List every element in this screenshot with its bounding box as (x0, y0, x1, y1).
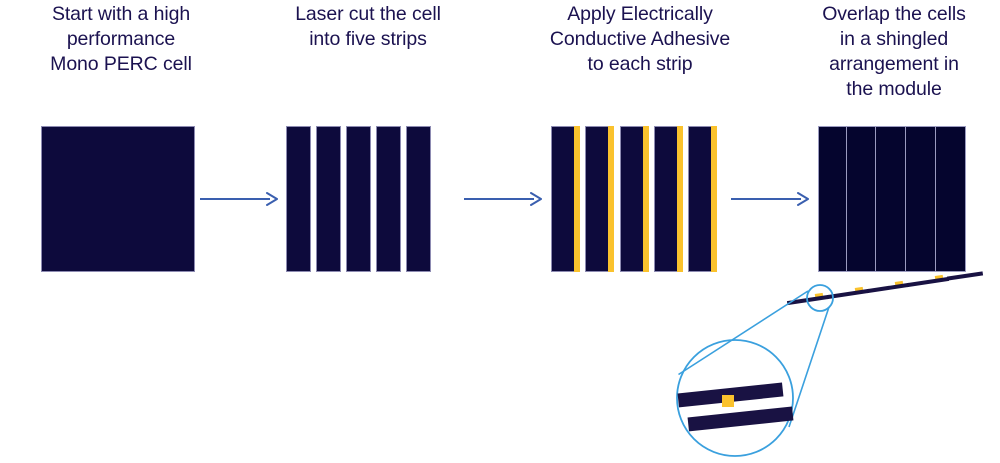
adhesive-bead (711, 126, 717, 272)
cut-strip (406, 126, 431, 272)
strip-body (551, 126, 574, 272)
step-2-caption: Laser cut the cell into five strips (266, 2, 470, 52)
whole-cell-figure (41, 126, 195, 272)
eca-strip (620, 126, 649, 272)
shingled-module-figure (818, 126, 985, 272)
cut-strips-figure (286, 126, 431, 272)
magnifier-connector-lines (679, 291, 830, 427)
step-3-caption: Apply Electrically Conductive Adhesive t… (516, 2, 764, 77)
arrow-step2-to-step3 (464, 188, 542, 210)
eca-strip (688, 126, 717, 272)
adhesive-bead (608, 126, 614, 272)
shingled-cell (935, 126, 966, 272)
strip-body (585, 126, 608, 272)
arrow-step3-to-step4 (731, 188, 809, 210)
magnifier-small-circle (807, 285, 833, 311)
adhesive-bead (643, 126, 649, 272)
arrow-right-icon (200, 188, 278, 210)
side-view-cell (827, 289, 869, 299)
arrow-right-icon (464, 188, 542, 210)
shingle-side-view (787, 271, 983, 305)
adhesive-bead (677, 126, 683, 272)
shingled-cell (846, 126, 876, 272)
arrow-right-icon (731, 188, 809, 210)
shingled-cell-row (818, 126, 985, 272)
step-4-caption: Overlap the cells in a shingled arrangem… (790, 2, 998, 102)
strip-body (654, 126, 677, 272)
side-view-cell (907, 277, 949, 287)
cut-strip (286, 126, 311, 272)
shingled-cell (875, 126, 906, 272)
magnified-overlap-detail (678, 382, 794, 431)
shingled-cell (818, 126, 847, 272)
step-1-caption: Start with a high performance Mono PERC … (12, 2, 230, 77)
side-view-cell (947, 271, 983, 280)
lower-cell-detail (688, 406, 794, 431)
eca-strip (654, 126, 683, 272)
cut-strip (316, 126, 341, 272)
shingled-cell (905, 126, 936, 272)
eca-strip (551, 126, 580, 272)
mono-perc-cell (41, 126, 195, 272)
upper-cell-detail (678, 382, 784, 407)
side-view-adhesive (935, 275, 944, 280)
adhesive-bead (574, 126, 580, 272)
cut-strip-row (286, 126, 431, 272)
side-view-cell (867, 283, 909, 293)
eca-strip-row (551, 126, 717, 272)
cut-strip (376, 126, 401, 272)
diagram-canvas: Start with a high performance Mono PERC … (0, 0, 1000, 463)
adhesive-square-detail (722, 395, 734, 407)
strip-body (620, 126, 643, 272)
eca-strip (585, 126, 614, 272)
cut-strip (346, 126, 371, 272)
side-view-cell (787, 295, 829, 305)
side-view-adhesive (895, 281, 904, 286)
magnifier-large-circle (677, 340, 793, 456)
arrow-step1-to-step2 (200, 188, 278, 210)
eca-strips-figure (551, 126, 717, 272)
side-view-adhesive (815, 293, 824, 298)
strip-body (688, 126, 711, 272)
side-view-adhesive (855, 287, 864, 292)
